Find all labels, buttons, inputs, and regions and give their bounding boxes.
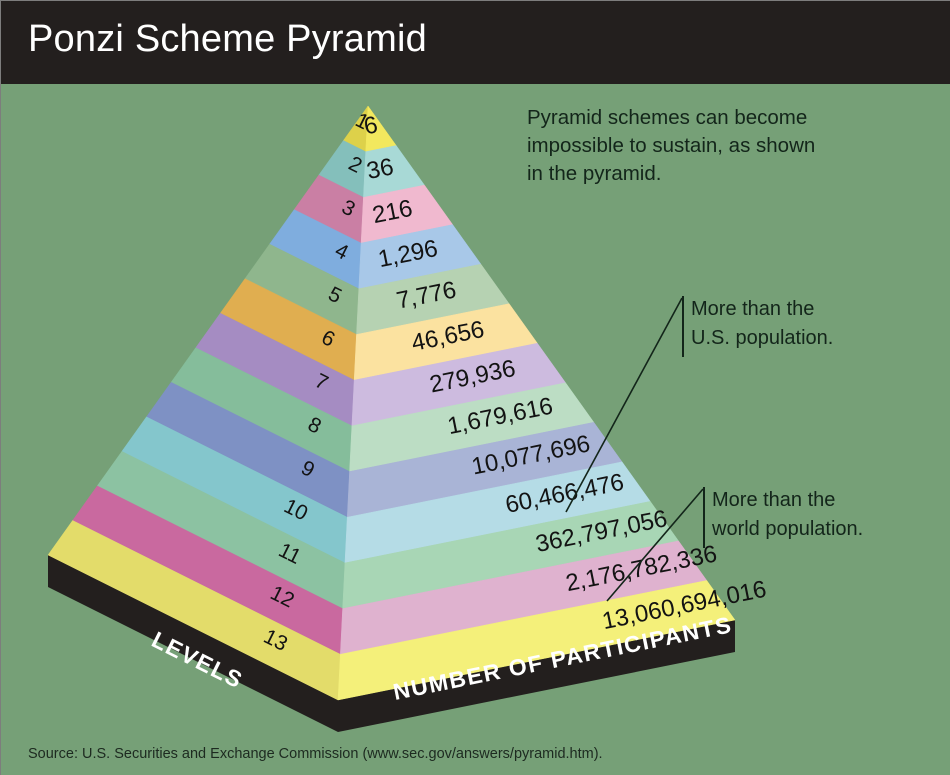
svg-text:impossible to sustain, as show: impossible to sustain, as shown (527, 134, 815, 157)
intro-line-3: in the pyramid. (527, 162, 661, 185)
callout-2-line-2: world population. (711, 518, 863, 540)
intro-line-1: Pyramid schemes can become (527, 106, 807, 129)
svg-text:in the pyramid.: in the pyramid. (527, 162, 661, 185)
svg-text:More than the: More than the (712, 489, 835, 511)
svg-text:More than the: More than the (691, 298, 814, 320)
intro-line-2: impossible to sustain, as shown (527, 134, 815, 157)
svg-text:Pyramid schemes can become: Pyramid schemes can become (527, 106, 807, 129)
callout-2-line-1: More than the (712, 489, 835, 511)
svg-text:world population.: world population. (711, 518, 863, 540)
participant-count-2: 36 (364, 153, 396, 185)
svg-text:U.S. population.: U.S. population. (691, 327, 833, 349)
callout-1-line-2: U.S. population. (691, 327, 833, 349)
callout-1-line-1: More than the (691, 298, 814, 320)
intro-note: Pyramid schemes can become impossible to… (527, 106, 815, 185)
pyramid-diagram: 12345678910111213 6362161,2967,77646,656… (0, 0, 950, 775)
infographic-page: Ponzi Scheme Pyramid Source: U.S. Securi… (0, 0, 950, 775)
